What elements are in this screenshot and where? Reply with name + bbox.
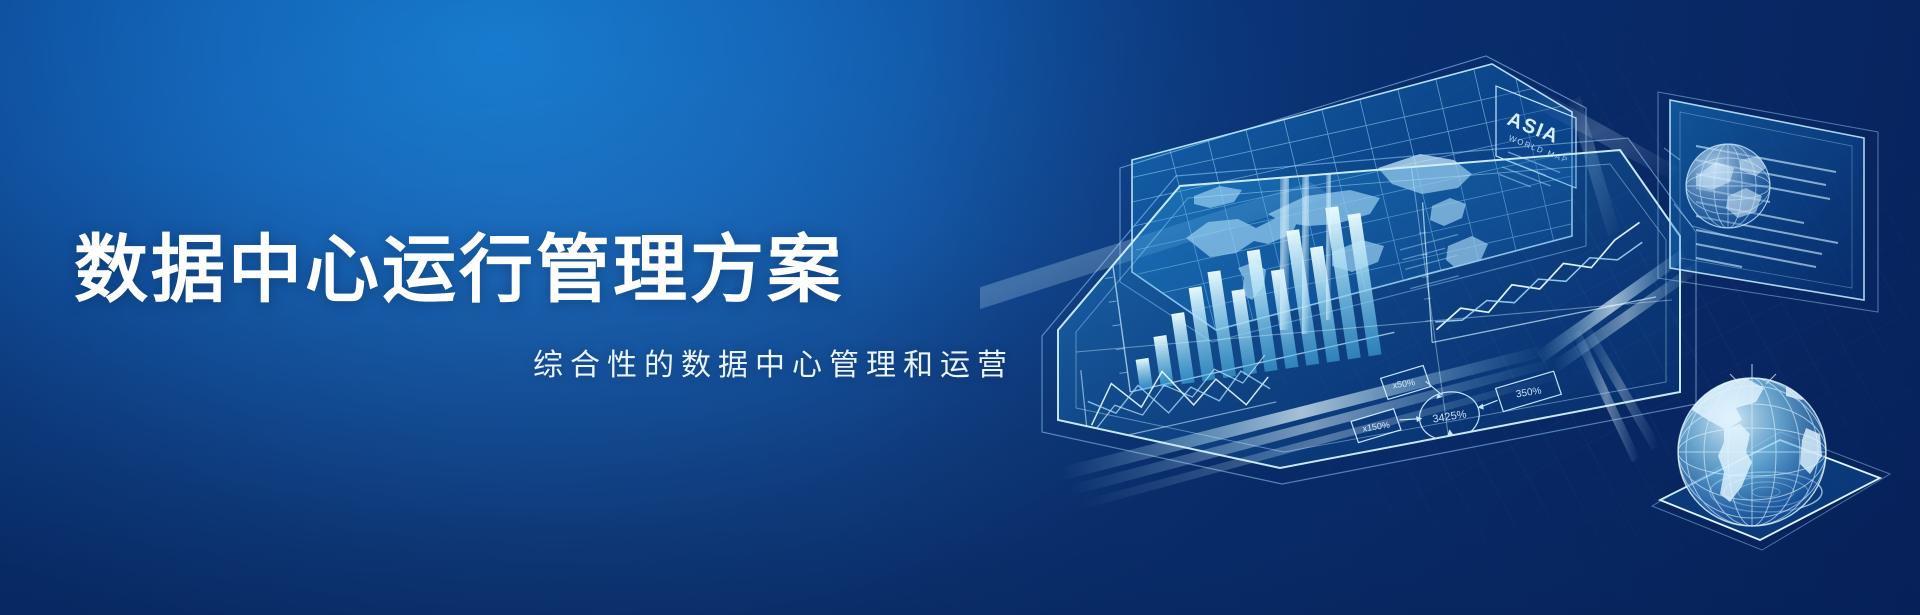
banner-text-block: 数据中心运行管理方案 综合性的数据中心管理和运营	[0, 0, 1060, 615]
page-subtitle: 综合性的数据中心管理和运营	[74, 340, 1014, 384]
page-title: 数据中心运行管理方案	[74, 232, 844, 309]
hero-banner: 数据中心运行管理方案 综合性的数据中心管理和运营	[0, 0, 1920, 615]
